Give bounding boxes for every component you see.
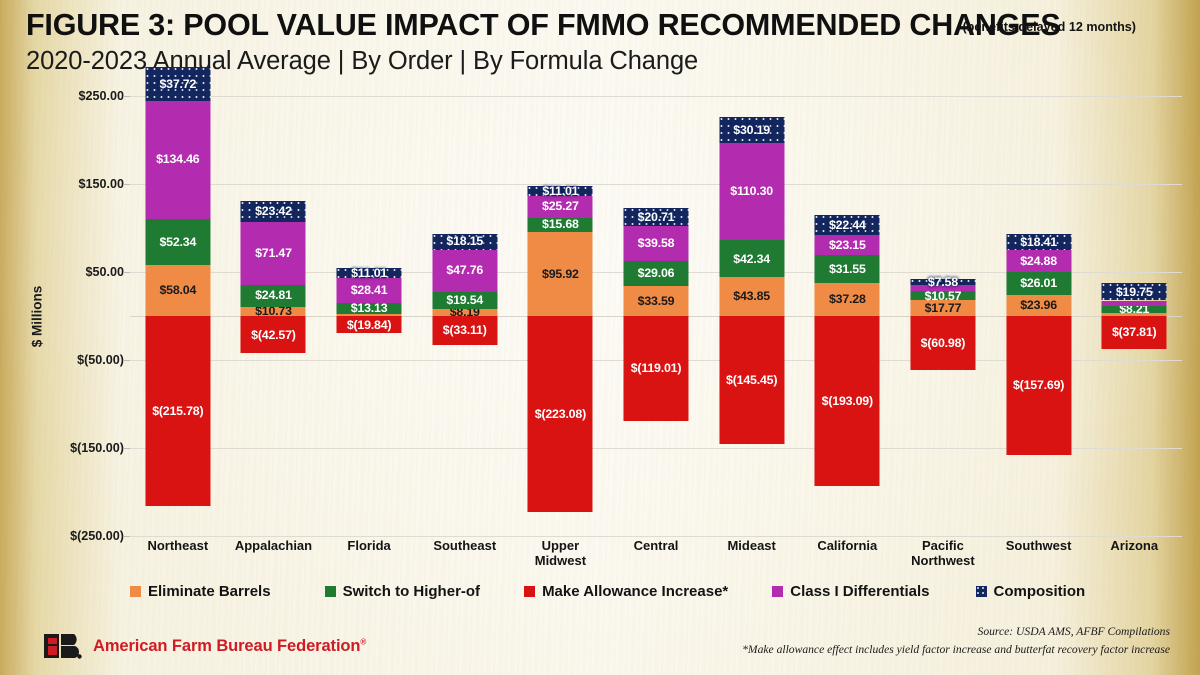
legend-label: Class I Differentials bbox=[790, 583, 929, 600]
stacked-bar[interactable]: $10.73$24.81$71.47$23.42$(42.57) bbox=[241, 96, 306, 536]
bar-segment-classi[interactable] bbox=[1102, 301, 1167, 306]
chart-area: $ Millions $250.00$150.00$50.00$(50.00)$… bbox=[0, 96, 1200, 536]
legend-item-composition[interactable]: Composition bbox=[976, 583, 1086, 600]
legend-label: Composition bbox=[994, 583, 1086, 600]
bar-segment-value: $71.47 bbox=[255, 247, 292, 259]
bar-segment-composition[interactable]: $19.75 bbox=[1102, 283, 1167, 300]
y-axis-title-text: $ Millions bbox=[30, 285, 45, 347]
bar-segment-value: $17.77 bbox=[925, 302, 962, 314]
bar-segment-composition[interactable]: $30.19 bbox=[719, 117, 784, 144]
legend-swatch-higherof bbox=[325, 586, 336, 597]
y-axis-tick-label: $50.00 bbox=[85, 265, 124, 279]
bar-segment-value: $26.01 bbox=[1020, 277, 1057, 289]
bar-segment-makeallow[interactable]: $(193.09) bbox=[815, 316, 880, 486]
bar-segment-classi[interactable]: $110.30 bbox=[719, 143, 784, 240]
afbf-logo-icon bbox=[42, 631, 84, 661]
brand-name-text: American Farm Bureau Federation bbox=[93, 637, 360, 655]
legend-swatch-barrels bbox=[130, 586, 141, 597]
stacked-bar[interactable]: $8.19$19.54$47.76$18.15$(33.11) bbox=[432, 96, 497, 536]
bar-segment-classi[interactable]: $47.76 bbox=[432, 250, 497, 292]
legend-item-higherof[interactable]: Switch to Higher-of bbox=[325, 583, 481, 600]
header: FIGURE 3: POOL VALUE IMPACT OF FMMO RECO… bbox=[26, 8, 1176, 76]
bar-segment-value: $20.71 bbox=[638, 211, 675, 223]
bar-segment-higherof[interactable]: $52.34 bbox=[145, 219, 210, 265]
bar-segment-composition[interactable]: $37.72 bbox=[145, 67, 210, 100]
y-axis-tick-label: $250.00 bbox=[78, 89, 124, 103]
bar-segment-value: $43.85 bbox=[733, 290, 770, 302]
source-note: Source: USDA AMS, AFBF Compilations *Mak… bbox=[742, 623, 1170, 659]
bar-segment-classi[interactable]: $25.27 bbox=[528, 196, 593, 218]
bar-segment-value: $33.59 bbox=[638, 295, 675, 307]
bar-segment-value: $(145.45) bbox=[726, 374, 777, 386]
bar-segment-barrels[interactable]: $8.19 bbox=[432, 309, 497, 316]
bar-segment-value: $22.44 bbox=[829, 219, 866, 231]
bar-segment-value: $(119.01) bbox=[631, 362, 682, 374]
legend-note: (benefits delayed 12 months) bbox=[962, 20, 1136, 34]
stacked-bar[interactable]: $8.21$19.75$(37.81) bbox=[1102, 96, 1167, 536]
bar-series-group: $58.04$52.34$134.46$37.72$(215.78)$10.73… bbox=[130, 96, 1182, 536]
registered-mark: ® bbox=[360, 637, 366, 646]
chart-legend: Eliminate BarrelsSwitch to Higher-ofMake… bbox=[130, 583, 1182, 600]
gridline bbox=[130, 536, 1182, 537]
bar-segment-higherof[interactable]: $13.13 bbox=[337, 303, 402, 315]
x-axis-label: Southeast bbox=[417, 538, 513, 569]
y-axis-tick-label: $(50.00) bbox=[77, 353, 124, 367]
bar-segment-higherof[interactable]: $15.68 bbox=[528, 218, 593, 232]
y-axis-ticks: $250.00$150.00$50.00$(50.00)$(150.00)$(2… bbox=[52, 96, 130, 536]
bar-segment-value: $42.34 bbox=[733, 253, 770, 265]
legend-label: Make Allowance Increase* bbox=[542, 583, 728, 600]
bar-segment-higherof[interactable]: $26.01 bbox=[1006, 272, 1071, 295]
x-axis-label: Appalachian bbox=[226, 538, 322, 569]
bar-segment-barrels[interactable]: $10.73 bbox=[241, 307, 306, 316]
bar-segment-value: $(19.84) bbox=[347, 319, 392, 331]
bar-segment-value: $95.92 bbox=[542, 268, 579, 280]
bar-segment-makeallow[interactable]: $(60.98) bbox=[910, 316, 975, 370]
bar-segment-higherof[interactable]: $24.81 bbox=[241, 285, 306, 307]
slide-root: FIGURE 3: POOL VALUE IMPACT OF FMMO RECO… bbox=[0, 0, 1200, 675]
footer: American Farm Bureau Federation® Source:… bbox=[0, 623, 1200, 675]
bar-segment-value: $18.41 bbox=[1020, 236, 1057, 248]
bar-segment-barrels[interactable]: $43.85 bbox=[719, 277, 784, 316]
bar-segment-higherof[interactable]: $31.55 bbox=[815, 255, 880, 283]
bar-segment-value: $(33.11) bbox=[443, 324, 487, 336]
bar-segment-classi[interactable]: $24.88 bbox=[1006, 250, 1071, 272]
bar-column[interactable]: $17.77$10.57$7.58$(60.98) bbox=[895, 96, 991, 536]
source-line-1: Source: USDA AMS, AFBF Compilations bbox=[742, 623, 1170, 641]
bar-segment-value: $19.75 bbox=[1116, 286, 1153, 298]
bar-segment-value: $11.01 bbox=[351, 267, 387, 279]
legend-item-makeallow[interactable]: Make Allowance Increase* bbox=[524, 583, 728, 600]
bar-segment-composition[interactable]: $11.01 bbox=[528, 186, 593, 196]
tick-mark bbox=[123, 448, 130, 449]
bar-segment-value: $19.54 bbox=[446, 294, 483, 306]
stacked-bar[interactable]: $37.28$31.55$23.15$22.44$(193.09) bbox=[815, 96, 880, 536]
bar-segment-value: $134.46 bbox=[156, 153, 199, 165]
bar-segment-classi[interactable]: $39.58 bbox=[624, 226, 689, 261]
tick-mark bbox=[123, 96, 130, 97]
x-axis-label: Southwest bbox=[991, 538, 1087, 569]
stacked-bar[interactable]: $17.77$10.57$7.58$(60.98) bbox=[910, 96, 975, 536]
bar-segment-higherof[interactable]: $29.06 bbox=[624, 261, 689, 287]
y-axis-tick-label: $150.00 bbox=[78, 177, 124, 191]
x-axis-label: PacificNorthwest bbox=[895, 538, 991, 569]
bar-segment-value: $7.58 bbox=[928, 276, 958, 288]
bar-segment-composition[interactable]: $22.44 bbox=[815, 215, 880, 235]
bar-column[interactable]: $58.04$52.34$134.46$37.72$(215.78) bbox=[130, 96, 226, 536]
bar-segment-makeallow[interactable]: $(223.08) bbox=[528, 316, 593, 512]
brand-block: American Farm Bureau Federation® bbox=[42, 631, 366, 661]
stacked-bar[interactable]: $58.04$52.34$134.46$37.72$(215.78) bbox=[145, 96, 210, 536]
bar-segment-value: $(193.09) bbox=[822, 395, 873, 407]
bar-segment-classi[interactable]: $23.15 bbox=[815, 235, 880, 255]
bar-segment-value: $37.72 bbox=[159, 78, 196, 90]
bar-segment-classi[interactable]: $28.41 bbox=[337, 278, 402, 303]
bar-column[interactable]: $13.13$28.41$11.01$(19.84) bbox=[321, 96, 417, 536]
bar-segment-makeallow[interactable]: $(33.11) bbox=[432, 316, 497, 345]
bar-segment-barrels[interactable]: $17.77 bbox=[910, 300, 975, 316]
legend-label: Eliminate Barrels bbox=[148, 583, 271, 600]
bar-segment-barrels[interactable]: $33.59 bbox=[624, 286, 689, 316]
bar-segment-composition[interactable]: $23.42 bbox=[241, 201, 306, 222]
bar-segment-makeallow[interactable]: $(157.69) bbox=[1006, 316, 1071, 455]
bar-segment-value: $23.15 bbox=[829, 239, 866, 251]
bar-segment-composition[interactable]: $11.01 bbox=[337, 268, 402, 278]
bar-segment-value: $25.27 bbox=[542, 200, 579, 212]
bar-segment-value: $23.42 bbox=[255, 205, 292, 217]
stacked-bar[interactable]: $43.85$42.34$110.30$30.19$(145.45) bbox=[719, 96, 784, 536]
bar-segment-value: $58.04 bbox=[159, 284, 196, 296]
stacked-bar[interactable]: $33.59$29.06$39.58$20.71$(119.01) bbox=[624, 96, 689, 536]
bar-segment-value: $29.06 bbox=[638, 267, 675, 279]
tick-mark bbox=[123, 272, 130, 273]
bar-segment-higherof[interactable]: $8.21 bbox=[1102, 306, 1167, 313]
bar-segment-value: $(37.81) bbox=[1112, 326, 1157, 338]
x-axis-label: Arizona bbox=[1086, 538, 1182, 569]
bar-segment-value: $28.41 bbox=[351, 284, 388, 296]
x-axis-label: Central bbox=[608, 538, 704, 569]
bar-segment-value: $(60.98) bbox=[921, 337, 966, 349]
bar-column[interactable]: $95.92$15.68$25.27$11.01$(223.08) bbox=[513, 96, 609, 536]
bar-segment-barrels[interactable]: $37.28 bbox=[815, 283, 880, 316]
legend-swatch-classi bbox=[772, 586, 783, 597]
bar-segment-value: $10.57 bbox=[925, 290, 962, 302]
bar-segment-value: $24.88 bbox=[1020, 255, 1057, 267]
stacked-bar[interactable]: $23.96$26.01$24.88$18.41$(157.69) bbox=[1006, 96, 1071, 536]
bar-column[interactable]: $8.19$19.54$47.76$18.15$(33.11) bbox=[417, 96, 513, 536]
bar-segment-composition[interactable]: $18.15 bbox=[432, 234, 497, 250]
bar-segment-makeallow[interactable]: $(19.84) bbox=[337, 316, 402, 333]
bar-segment-value: $30.19 bbox=[733, 124, 770, 136]
x-axis-label: California bbox=[799, 538, 895, 569]
bar-column[interactable]: $8.21$19.75$(37.81) bbox=[1086, 96, 1182, 536]
bar-segment-value: $23.96 bbox=[1020, 299, 1057, 311]
bar-segment-composition[interactable]: $20.71 bbox=[624, 208, 689, 226]
brand-name: American Farm Bureau Federation® bbox=[93, 637, 366, 656]
y-axis-title: $ Millions bbox=[26, 96, 48, 536]
bar-segment-classi[interactable]: $71.47 bbox=[241, 222, 306, 285]
legend-swatch-composition bbox=[976, 586, 987, 597]
bar-segment-makeallow[interactable]: $(42.57) bbox=[241, 316, 306, 353]
bar-segment-makeallow[interactable]: $(37.81) bbox=[1102, 316, 1167, 349]
bar-segment-value: $13.13 bbox=[351, 302, 388, 314]
bar-segment-value: $(42.57) bbox=[251, 329, 296, 341]
bar-segment-value: $31.55 bbox=[829, 263, 866, 275]
bar-segment-value: $(157.69) bbox=[1013, 379, 1064, 391]
bar-segment-value: $11.01 bbox=[542, 185, 578, 197]
stacked-bar[interactable]: $13.13$28.41$11.01$(19.84) bbox=[337, 96, 402, 536]
bar-segment-value: $(215.78) bbox=[152, 405, 203, 417]
legend-item-barrels[interactable]: Eliminate Barrels bbox=[130, 583, 271, 600]
bar-segment-barrels[interactable]: $23.96 bbox=[1006, 295, 1071, 316]
bar-segment-makeallow[interactable]: $(119.01) bbox=[624, 316, 689, 421]
tick-mark bbox=[123, 360, 130, 361]
legend-label: Switch to Higher-of bbox=[343, 583, 481, 600]
bar-segment-higherof[interactable]: $10.57 bbox=[910, 291, 975, 300]
bar-column[interactable]: $33.59$29.06$39.58$20.71$(119.01) bbox=[608, 96, 704, 536]
bar-segment-value: $18.15 bbox=[446, 235, 483, 247]
tick-mark bbox=[123, 536, 130, 537]
bar-segment-barrels[interactable]: $58.04 bbox=[145, 265, 210, 316]
x-axis-label: UpperMidwest bbox=[513, 538, 609, 569]
legend-item-classi[interactable]: Class I Differentials bbox=[772, 583, 929, 600]
x-axis-labels: NortheastAppalachianFloridaSoutheastUppe… bbox=[130, 538, 1182, 569]
bar-segment-higherof[interactable]: $42.34 bbox=[719, 240, 784, 277]
bar-segment-makeallow[interactable]: $(145.45) bbox=[719, 316, 784, 444]
bar-column[interactable]: $43.85$42.34$110.30$30.19$(145.45) bbox=[704, 96, 800, 536]
bar-segment-value: $110.30 bbox=[730, 185, 773, 197]
bar-segment-value: $(223.08) bbox=[535, 408, 586, 420]
bar-column[interactable]: $37.28$31.55$23.15$22.44$(193.09) bbox=[799, 96, 895, 536]
bar-segment-classi[interactable]: $134.46 bbox=[145, 101, 210, 219]
bar-segment-value: $52.34 bbox=[159, 236, 196, 248]
x-axis-label: Northeast bbox=[130, 538, 226, 569]
bar-column[interactable]: $23.96$26.01$24.88$18.41$(157.69) bbox=[991, 96, 1087, 536]
y-axis-tick-label: $(150.00) bbox=[70, 441, 124, 455]
bar-segment-value: $15.68 bbox=[542, 218, 579, 230]
bar-segment-barrels[interactable]: $95.92 bbox=[528, 232, 593, 316]
bar-column[interactable]: $10.73$24.81$71.47$23.42$(42.57) bbox=[226, 96, 322, 536]
source-line-2: *Make allowance effect includes yield fa… bbox=[742, 641, 1170, 659]
bar-segment-higherof[interactable]: $19.54 bbox=[432, 292, 497, 309]
y-axis-tick-label: $(250.00) bbox=[70, 529, 124, 543]
tick-mark bbox=[123, 184, 130, 185]
bar-segment-value: $37.28 bbox=[829, 293, 866, 305]
legend-swatch-makeallow bbox=[524, 586, 535, 597]
x-axis-label: Florida bbox=[321, 538, 417, 569]
bar-segment-value: $24.81 bbox=[255, 289, 292, 301]
bar-segment-composition[interactable]: $7.58 bbox=[910, 279, 975, 286]
stacked-bar[interactable]: $95.92$15.68$25.27$11.01$(223.08) bbox=[528, 96, 593, 536]
bar-segment-value: $39.58 bbox=[638, 237, 675, 249]
bar-segment-composition[interactable]: $18.41 bbox=[1006, 234, 1071, 250]
bar-segment-makeallow[interactable]: $(215.78) bbox=[145, 316, 210, 506]
x-axis-label: Mideast bbox=[704, 538, 800, 569]
bar-segment-value: $47.76 bbox=[446, 264, 483, 276]
